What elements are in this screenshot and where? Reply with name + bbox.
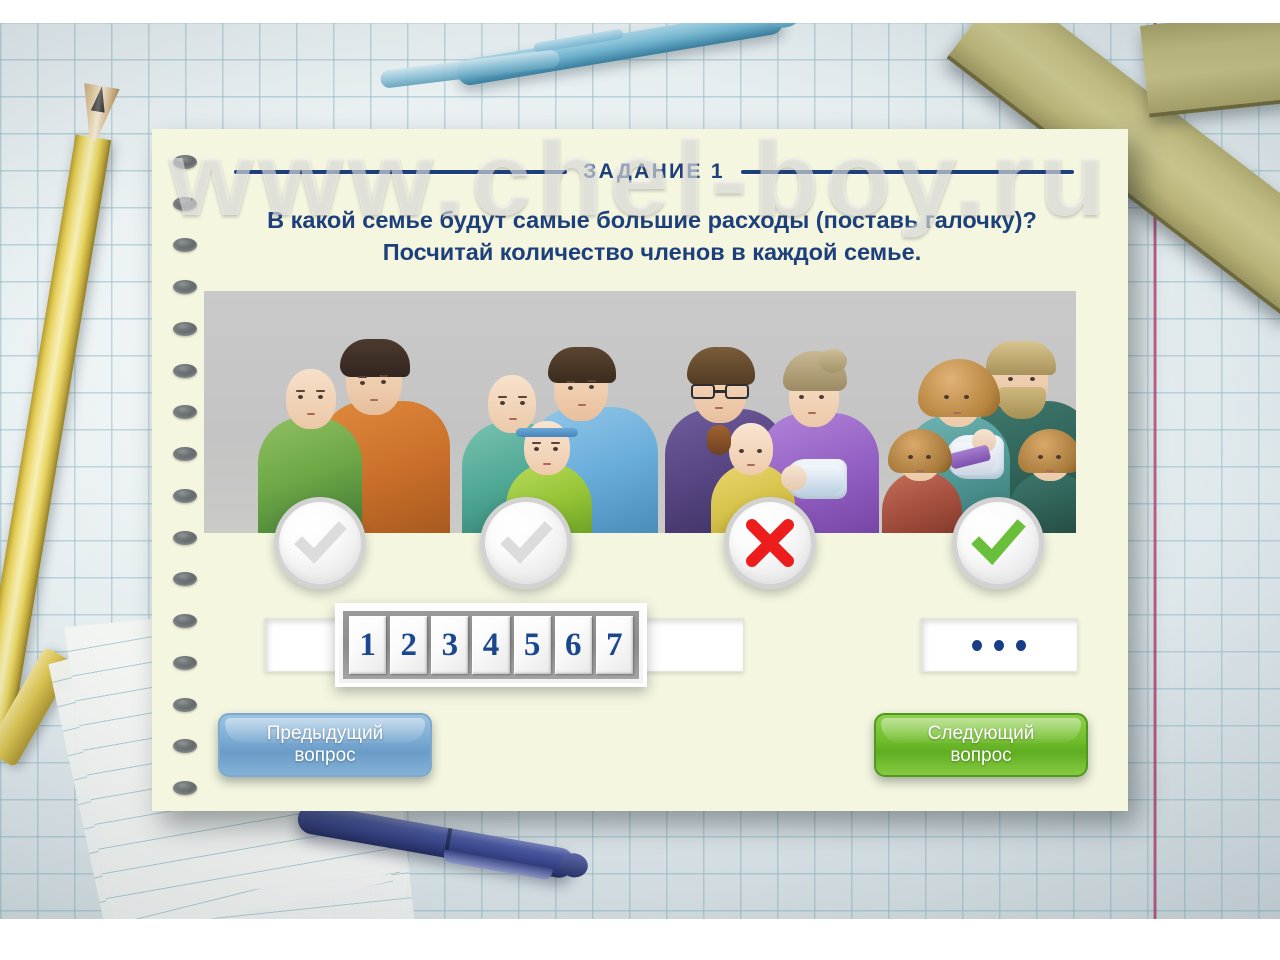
brow bbox=[566, 381, 575, 383]
person-man-hair bbox=[340, 339, 410, 377]
family-group-2 bbox=[454, 319, 666, 533]
question-prompt: В какой семье будут самые большие расход… bbox=[212, 205, 1092, 269]
person-man-hair bbox=[548, 347, 616, 383]
brow bbox=[551, 442, 560, 444]
eye bbox=[500, 401, 505, 405]
spiral-binding bbox=[173, 155, 199, 795]
mouth bbox=[370, 399, 378, 401]
person-woman-head bbox=[488, 375, 536, 433]
eye bbox=[520, 401, 525, 405]
eye bbox=[926, 455, 931, 459]
eye bbox=[568, 386, 573, 390]
person-man-hair bbox=[986, 341, 1056, 375]
previous-question-label-line2: вопрос bbox=[220, 745, 430, 767]
check-icon bbox=[292, 515, 348, 571]
mouth bbox=[1046, 470, 1054, 472]
eye bbox=[1008, 377, 1013, 381]
person-woman-head bbox=[286, 369, 336, 429]
number-tile-2[interactable]: 2 bbox=[390, 616, 427, 674]
girl-ponytail-icon bbox=[707, 425, 731, 455]
families-illustration bbox=[204, 291, 1076, 533]
binding-ring bbox=[173, 364, 197, 378]
prompt-line-1: В какой семье будут самые большие расход… bbox=[212, 205, 1092, 237]
person-girl-head bbox=[729, 423, 773, 475]
number-tile-6[interactable]: 6 bbox=[555, 616, 592, 674]
next-question-label-line2: вопрос bbox=[876, 745, 1086, 767]
eye bbox=[381, 380, 386, 384]
next-question-button[interactable]: Следующий вопрос bbox=[874, 713, 1088, 777]
girl-headband-icon bbox=[516, 428, 578, 437]
input-dot bbox=[1016, 640, 1026, 651]
mouth bbox=[916, 470, 924, 472]
person-man-hair bbox=[687, 347, 755, 385]
eye bbox=[944, 395, 949, 399]
binding-ring bbox=[173, 739, 197, 753]
answer-circle-family-4[interactable] bbox=[952, 497, 1044, 589]
eye bbox=[819, 395, 824, 399]
eye bbox=[318, 395, 323, 399]
brow bbox=[379, 375, 388, 377]
screenshot-root: ЗАДАНИЕ 1 В какой семье будут самые боль… bbox=[0, 0, 1280, 960]
brow bbox=[296, 390, 305, 392]
person-baby-bundle bbox=[785, 459, 847, 499]
check-icon bbox=[498, 515, 554, 571]
answer-input-right[interactable] bbox=[920, 618, 1078, 672]
number-tile-5[interactable]: 5 bbox=[514, 616, 551, 674]
number-tile-7[interactable]: 7 bbox=[596, 616, 633, 674]
binding-ring bbox=[173, 405, 197, 419]
eye bbox=[1038, 455, 1043, 459]
task-header: ЗАДАНИЕ 1 bbox=[234, 157, 1074, 187]
brow bbox=[587, 380, 596, 382]
next-question-label-line1: Следующий bbox=[876, 723, 1086, 745]
binding-ring bbox=[173, 489, 197, 503]
number-selector[interactable]: 1234567 bbox=[335, 603, 647, 687]
eye bbox=[908, 455, 913, 459]
binding-ring bbox=[173, 531, 197, 545]
mouth bbox=[307, 413, 315, 415]
mouth bbox=[715, 407, 723, 409]
brow bbox=[532, 442, 541, 444]
brow bbox=[498, 396, 507, 398]
binding-ring bbox=[173, 197, 197, 211]
divider-left bbox=[234, 170, 567, 174]
eye bbox=[360, 381, 365, 385]
check-icon bbox=[969, 514, 1027, 572]
previous-question-button[interactable]: Предыдущий вопрос bbox=[218, 713, 432, 777]
binding-ring bbox=[173, 656, 197, 670]
eye bbox=[739, 449, 744, 453]
eye bbox=[799, 395, 804, 399]
mouth bbox=[578, 404, 586, 406]
glasses-icon bbox=[691, 384, 749, 399]
input-dot bbox=[994, 640, 1004, 651]
binding-ring bbox=[173, 322, 197, 336]
mouth bbox=[953, 412, 961, 414]
answer-circle-family-1[interactable] bbox=[274, 497, 366, 589]
divider-right bbox=[741, 170, 1074, 174]
eye bbox=[1030, 377, 1035, 381]
binding-ring bbox=[173, 280, 197, 294]
binding-ring bbox=[173, 614, 197, 628]
top-border bbox=[0, 0, 1280, 23]
number-tile-4[interactable]: 4 bbox=[472, 616, 509, 674]
mouth bbox=[808, 412, 816, 414]
binding-ring bbox=[173, 572, 197, 586]
mouth bbox=[747, 464, 755, 466]
worksheet-card: ЗАДАНИЕ 1 В какой семье будут самые боль… bbox=[152, 129, 1128, 811]
previous-question-label-line1: Предыдущий bbox=[220, 723, 430, 745]
eye bbox=[534, 447, 539, 451]
brow bbox=[358, 376, 367, 378]
eye bbox=[553, 447, 558, 451]
brow bbox=[316, 390, 325, 392]
number-tiles-container: 1234567 bbox=[343, 611, 639, 679]
brow bbox=[518, 396, 527, 398]
eye bbox=[964, 395, 969, 399]
answer-circle-family-2[interactable] bbox=[480, 497, 572, 589]
baby-head bbox=[781, 465, 807, 491]
eye bbox=[589, 385, 594, 389]
input-dot bbox=[972, 640, 982, 651]
person-baby-bundle bbox=[946, 435, 1004, 479]
binding-ring bbox=[173, 447, 197, 461]
woman-bun-icon bbox=[819, 349, 847, 373]
binding-ring bbox=[173, 698, 197, 712]
eye bbox=[1056, 455, 1061, 459]
number-tile-3[interactable]: 3 bbox=[431, 616, 468, 674]
binding-ring bbox=[173, 238, 197, 252]
binding-ring bbox=[173, 155, 197, 169]
mouth bbox=[543, 463, 551, 465]
mouth bbox=[509, 418, 517, 420]
family-group-1 bbox=[242, 319, 456, 533]
bottom-border bbox=[0, 919, 1280, 960]
prompt-line-2: Посчитай количество членов в каждой семь… bbox=[212, 237, 1092, 269]
cross-icon bbox=[744, 517, 796, 569]
eye bbox=[298, 395, 303, 399]
answer-circle-family-3[interactable] bbox=[724, 497, 816, 589]
number-tile-1[interactable]: 1 bbox=[349, 616, 386, 674]
binding-ring bbox=[173, 781, 197, 795]
page-title: ЗАДАНИЕ 1 bbox=[583, 160, 725, 184]
eye bbox=[757, 449, 762, 453]
